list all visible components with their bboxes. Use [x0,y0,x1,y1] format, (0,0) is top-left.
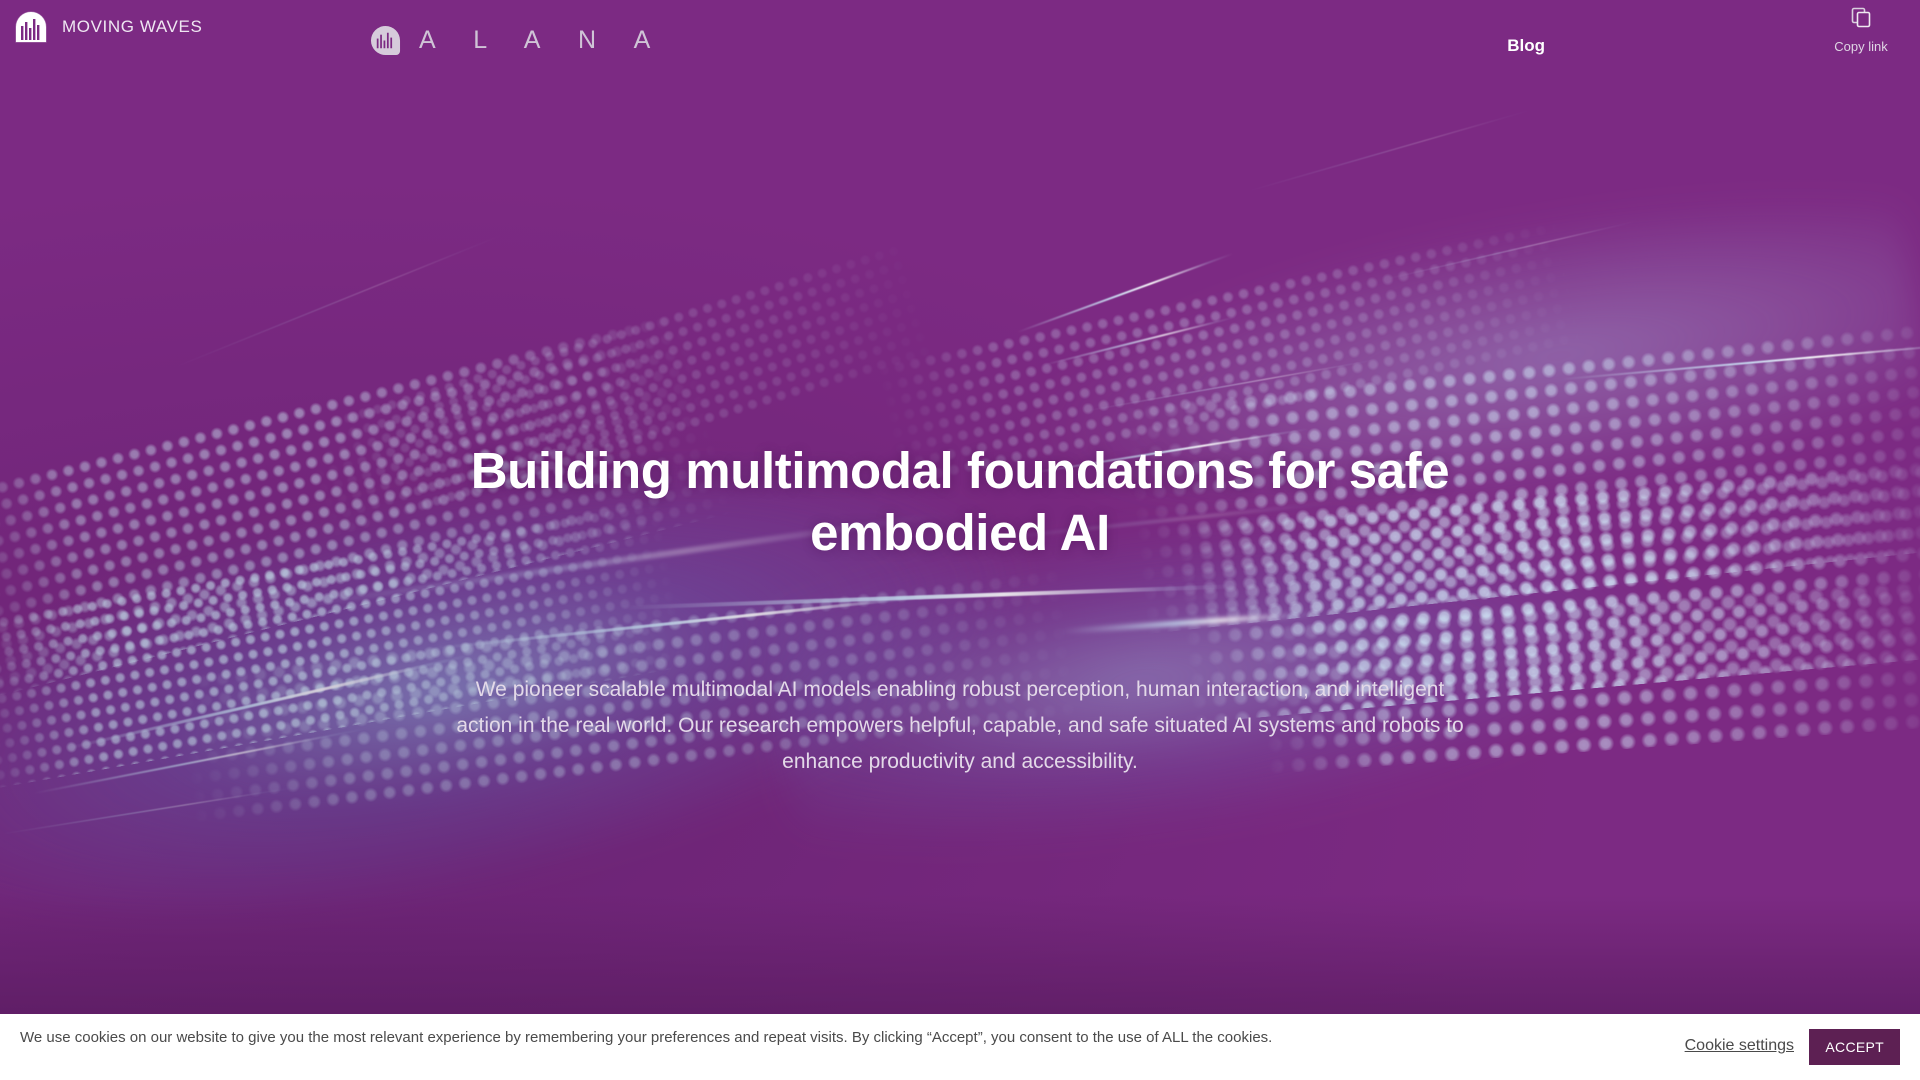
light-streak [1561,342,1920,381]
light-streak [1082,359,1378,412]
copy-icon [1850,6,1872,33]
light-streak [1017,253,1234,334]
light-streak [1043,316,1238,366]
hero-subtitle: We pioneer scalable multimodal AI models… [445,672,1475,780]
nav-link-blog[interactable]: Blog [1507,36,1545,56]
cookie-settings-link[interactable]: Cookie settings [1685,1037,1794,1055]
light-streak [1246,109,1535,193]
alana-circle-waveform-logo-icon [370,25,401,56]
page-title: Building multimodal foundations for safe… [460,440,1460,564]
cookie-consent-banner: We use cookies on our website to give yo… [0,1014,1920,1080]
hero-bottom-gradient [0,894,1920,1014]
brand-moving-waves[interactable]: MOVING WAVES [14,10,202,44]
brand-alana[interactable]: A L A N A [370,25,666,56]
brand-alana-label: A L A N A [419,26,666,55]
light-streak [2,787,298,835]
hero-section: MOVING WAVES A L A N A Blog [0,0,1920,1014]
hero-copy: Building multimodal foundations for safe… [0,440,1920,780]
brand-moving-waves-label: MOVING WAVES [62,17,202,37]
light-streak [173,233,507,369]
copy-link-button[interactable]: Copy link [1824,6,1898,54]
accept-cookies-button[interactable]: ACCEPT [1809,1029,1900,1065]
light-streak [1383,221,1637,280]
site-header: MOVING WAVES A L A N A Blog [0,0,1920,68]
moving-waves-dome-waveform-logo-icon [14,10,48,44]
cookie-consent-text: We use cookies on our website to give yo… [20,1027,1340,1048]
copy-link-label: Copy link [1834,39,1887,54]
